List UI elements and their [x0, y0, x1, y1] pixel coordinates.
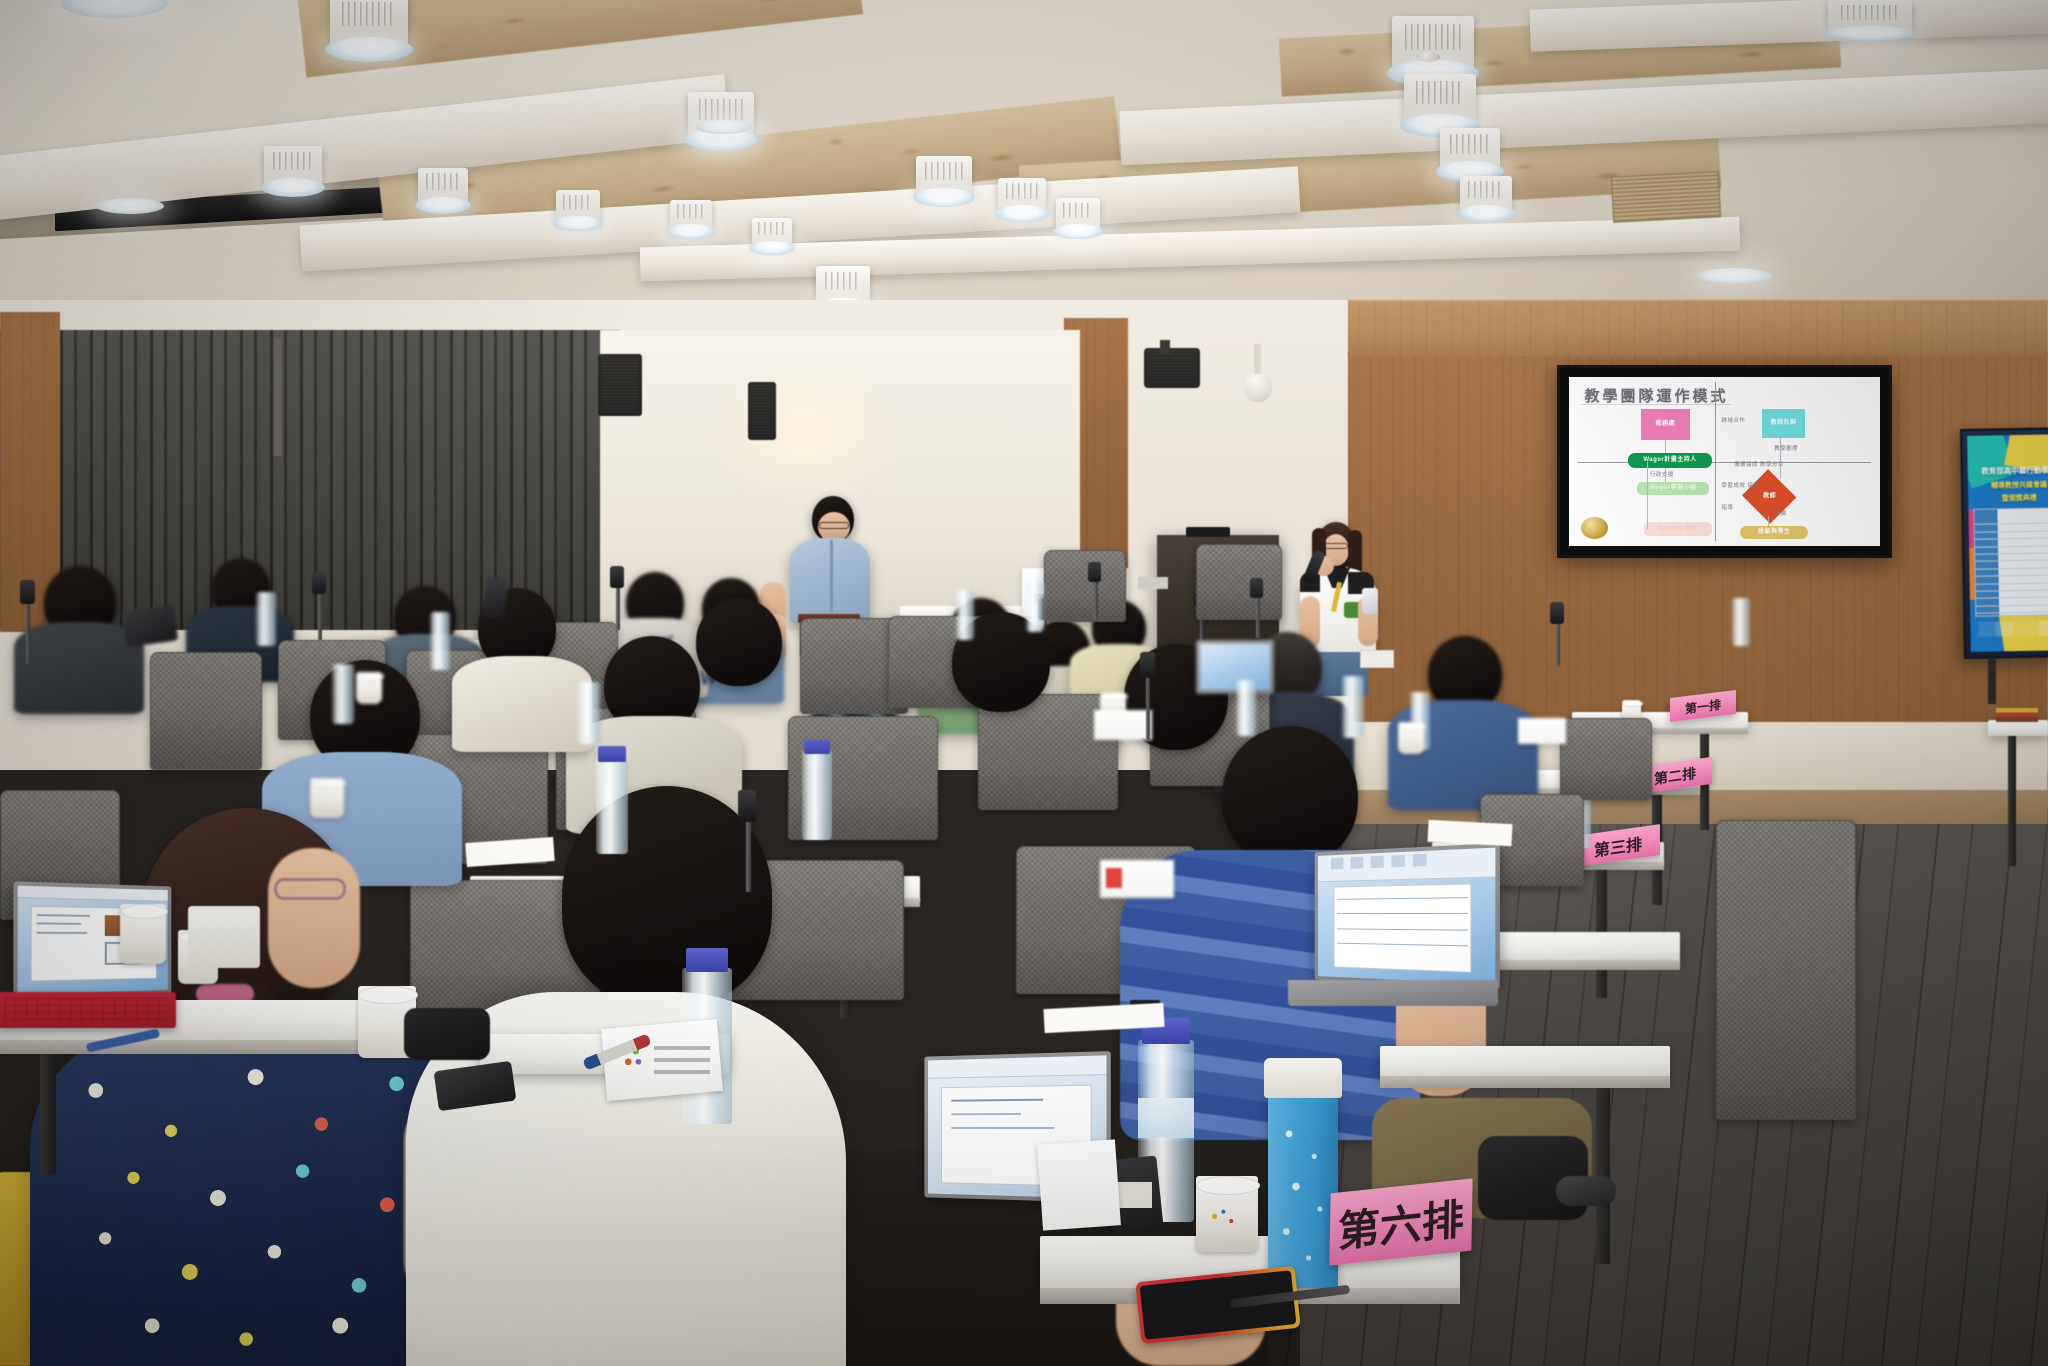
- water-bottle-mid-6[interactable]: [332, 664, 354, 724]
- camera-mount-pole: [1254, 344, 1261, 374]
- assistant-glasses: [819, 522, 849, 529]
- desk-mid-right[interactable]: [1380, 1046, 1670, 1080]
- chair-b9[interactable]: [1560, 718, 1652, 800]
- wall-speaker-left: [598, 354, 642, 416]
- desk-mic-stand-2[interactable]: [746, 812, 751, 892]
- arrow-pink-to-green: [1665, 440, 1666, 454]
- poster-headline-3: 暨頒獎典禮: [1972, 493, 2048, 505]
- paper-cup-mid-1[interactable]: [310, 778, 344, 818]
- pendant-light-15: [1460, 176, 1512, 214]
- side-table-leg: [2008, 736, 2016, 866]
- schedule-row: [1976, 605, 2048, 614]
- raised-tablet[interactable]: [122, 605, 179, 648]
- audience-body-m4: [452, 656, 592, 752]
- podium-control-panel[interactable]: [1138, 577, 1168, 589]
- water-bottle-stage-1[interactable]: [1732, 598, 1750, 646]
- laptop-right-base[interactable]: [1288, 980, 1498, 1006]
- name-placard-text: [654, 1046, 710, 1080]
- desk-mic-head-3[interactable]: [1550, 602, 1564, 624]
- smoke-detector: [1416, 52, 1440, 62]
- ceiling-dome-camera: [1244, 370, 1272, 402]
- pendant-light-7: [670, 200, 712, 232]
- side-table[interactable]: [1988, 720, 2048, 736]
- laptop-far-left-screen[interactable]: [1200, 644, 1270, 690]
- pendant-light-14: [1440, 128, 1500, 172]
- node-project-team: Wagor專案小組: [1637, 482, 1709, 496]
- pendant-light-6: [264, 146, 322, 188]
- laptop-surface-keys[interactable]: [4, 998, 166, 1020]
- quadrant-horizontal-line: [1578, 462, 1870, 463]
- desk-foreground-left-leg: [40, 1054, 56, 1174]
- node-project-director: Wagor計畫主持人: [1628, 453, 1712, 468]
- pendant-light-4: [418, 168, 468, 206]
- poster-stand-pole: [1988, 658, 1996, 704]
- badge-card-text: [1116, 1182, 1152, 1208]
- water-bottle-back-5[interactable]: [1026, 582, 1044, 632]
- desk-mic-head-2[interactable]: [738, 790, 756, 822]
- presentation-screen[interactable]: 教學團隊運作模式 教務處 教師社群 Wagor計畫主持人 Wagor專案小組 W…: [1557, 365, 1892, 558]
- poster-artwork: 教育部高中職行動學習 輔導教授共識會議 暨頒獎典禮: [1967, 434, 2048, 652]
- poster-headline-2: 輔導教授共識會議: [1972, 480, 2048, 492]
- pendant-light-13: [1404, 74, 1476, 126]
- thermos-cap[interactable]: [1264, 1058, 1342, 1098]
- laptop-right-row: [1337, 913, 1468, 914]
- arrow-cyan-down: [1780, 438, 1781, 479]
- laptop-text-line: [37, 923, 81, 925]
- thermos-snowflake-pattern: [1268, 1100, 1338, 1288]
- chair-b7[interactable]: [1044, 550, 1126, 622]
- poster-headline-1: 教育部高中職行動學習: [1972, 464, 2048, 477]
- node-academic-affairs: 教務處: [1641, 409, 1691, 439]
- pendant-light-10: [998, 178, 1046, 214]
- desk-mic-head-7[interactable]: [20, 580, 35, 604]
- poster-schedule-table: [1973, 508, 2048, 618]
- water-bottle-mid-2[interactable]: [802, 750, 832, 840]
- audience-head-right-large: [1222, 726, 1358, 866]
- pendant-light-12: [1392, 16, 1474, 74]
- assistant-shirt-placket: [830, 540, 833, 612]
- presenter-glasses: [1324, 543, 1348, 549]
- bottle-label-foreground: [1138, 1098, 1194, 1138]
- node-teacher-community: 教師社群: [1762, 409, 1806, 438]
- pendant-light-16: [1828, 0, 1912, 34]
- pendant-light-8: [752, 218, 792, 248]
- pendant-light-5: [556, 190, 600, 224]
- bottle-cap-center-fg[interactable]: [686, 948, 728, 972]
- poster-sponsor-logos: [1979, 620, 2048, 637]
- water-bottle-back-3[interactable]: [1236, 680, 1256, 736]
- laptop-right-screen[interactable]: [1318, 848, 1495, 985]
- node-classes-students: 班級與學生: [1740, 526, 1808, 540]
- wall-wood-panel-upper-right: [1348, 300, 2048, 356]
- water-bottle-mid-4[interactable]: [578, 682, 600, 744]
- conference-room-photo: 教學團隊運作模式 教務處 教師社群 Wagor計畫主持人 Wagor專案小組 W…: [0, 0, 2048, 1366]
- desk-mic-head-8[interactable]: [1250, 578, 1263, 598]
- slide-title-rule: [1581, 404, 1730, 405]
- desk-mic-stand-4[interactable]: [318, 588, 322, 640]
- water-bottle-back-1[interactable]: [1342, 676, 1364, 738]
- tissue-box[interactable]: [188, 906, 260, 968]
- name-placard-foreground-right: [1037, 1139, 1121, 1230]
- water-bottle-back-4[interactable]: [956, 590, 974, 640]
- event-poster[interactable]: 教育部高中職行動學習 輔導教授共識會議 暨頒獎典禮: [1960, 427, 2048, 659]
- edge-label-coordination: 溝通協調 教學分享: [1734, 462, 1784, 469]
- wall-speaker-center: [748, 382, 776, 440]
- desk-mic-head-6[interactable]: [1088, 562, 1101, 582]
- recessed-light-4: [1696, 268, 1772, 284]
- laptop-center-line: [951, 1127, 1053, 1129]
- pendant-light-9: [916, 156, 972, 198]
- laptop-center-line: [951, 1113, 1021, 1115]
- name-placard-mid-accent: [1106, 868, 1122, 888]
- water-bottle-mid-1[interactable]: [596, 758, 628, 854]
- desk-mic-stand-7[interactable]: [26, 598, 30, 664]
- smartphone-screen[interactable]: [1140, 1270, 1297, 1340]
- node-student-assistants: Wagor小老師: [1644, 522, 1712, 536]
- arrow-diamond-down: [1768, 516, 1769, 526]
- desk-foreground-left-edge: [0, 1040, 400, 1054]
- pendant-light-11: [1056, 198, 1100, 232]
- podium-top-device[interactable]: [1186, 527, 1230, 537]
- water-bottle-mid-3[interactable]: [430, 612, 450, 670]
- paper-cup-mid-4[interactable]: [1398, 722, 1424, 754]
- chair-front-5[interactable]: [1716, 820, 1856, 1120]
- slide-content: 教學團隊運作模式 教務處 教師社群 Wagor計畫主持人 Wagor專案小組 W…: [1569, 377, 1880, 546]
- wall-conduit: [274, 338, 282, 456]
- desk-mic-head-5[interactable]: [610, 566, 624, 588]
- recessed-light-2: [96, 198, 164, 214]
- presenter-smartphone[interactable]: [1362, 588, 1378, 614]
- row-sign-6: 第六排: [1329, 1178, 1472, 1265]
- desk-mic-head-1[interactable]: [1140, 652, 1155, 678]
- arrow-green-to-team: [1665, 468, 1666, 482]
- wall-speaker-right: [1144, 348, 1200, 388]
- audience-head-m3: [696, 598, 782, 686]
- foreground-woman-face: [268, 848, 360, 988]
- paper-cup-left-fg-2[interactable]: [120, 904, 166, 964]
- desk-mic-head-4[interactable]: [312, 572, 326, 594]
- laptop-far-left[interactable]: [1196, 640, 1274, 694]
- name-placard-back-2: [1518, 718, 1566, 744]
- laptop-toolbar[interactable]: [18, 886, 168, 903]
- bag-floor-left[interactable]: [404, 1008, 490, 1060]
- cup-print-foreground: [1204, 1206, 1248, 1232]
- pendant-light-1: [330, 0, 408, 50]
- desk-mic-stand-8[interactable]: [1256, 592, 1260, 638]
- slide-school-logo: [1581, 517, 1607, 539]
- wall-outlet[interactable]: [1360, 650, 1394, 668]
- chair-b1[interactable]: [150, 652, 262, 770]
- laptop-right[interactable]: [1315, 843, 1500, 989]
- water-bottle-mid-5[interactable]: [256, 592, 276, 646]
- paper-cup-mid-2[interactable]: [356, 672, 382, 704]
- books-stack[interactable]: [1996, 708, 2038, 722]
- edge-label-cross-domain: 跨域合作: [1721, 418, 1745, 425]
- laptop-text-line: [37, 931, 87, 933]
- node-teacher: 教師: [1742, 470, 1797, 525]
- wall-light-glow: [700, 360, 910, 510]
- shoe-floor: [1556, 1176, 1616, 1206]
- edge-label-admin-support: 行政支援: [1650, 472, 1674, 479]
- laptop-center-toolbar[interactable]: [928, 1055, 1106, 1079]
- recessed-light-3: [696, 120, 752, 134]
- bottle-cap-mid-1[interactable]: [598, 746, 626, 762]
- desk-mic-stand-1[interactable]: [1146, 670, 1150, 740]
- ceiling-vent-grille: [1611, 171, 1721, 223]
- name-placard-back-1: [1094, 710, 1152, 740]
- desk-mid-right-edge: [1380, 1076, 1670, 1088]
- edge-label-learning-outcome: 學習成效 協作: [1721, 483, 1759, 490]
- bottle-cap-mid-2[interactable]: [804, 740, 830, 754]
- foreground-woman-glasses: [274, 878, 346, 900]
- arrow-team-to-assist: [1647, 462, 1648, 530]
- desk-mic-stand-6[interactable]: [1094, 576, 1098, 620]
- edge-label-feedback: 回饋: [1774, 511, 1786, 518]
- edge-label-observation: 教學觀摩: [1774, 446, 1798, 453]
- chair-b8[interactable]: [1196, 544, 1282, 620]
- paper-sheet-right[interactable]: [1427, 820, 1512, 846]
- edge-label-guidance: 指導: [1721, 505, 1733, 512]
- speaker-mount-bracket: [1160, 340, 1170, 354]
